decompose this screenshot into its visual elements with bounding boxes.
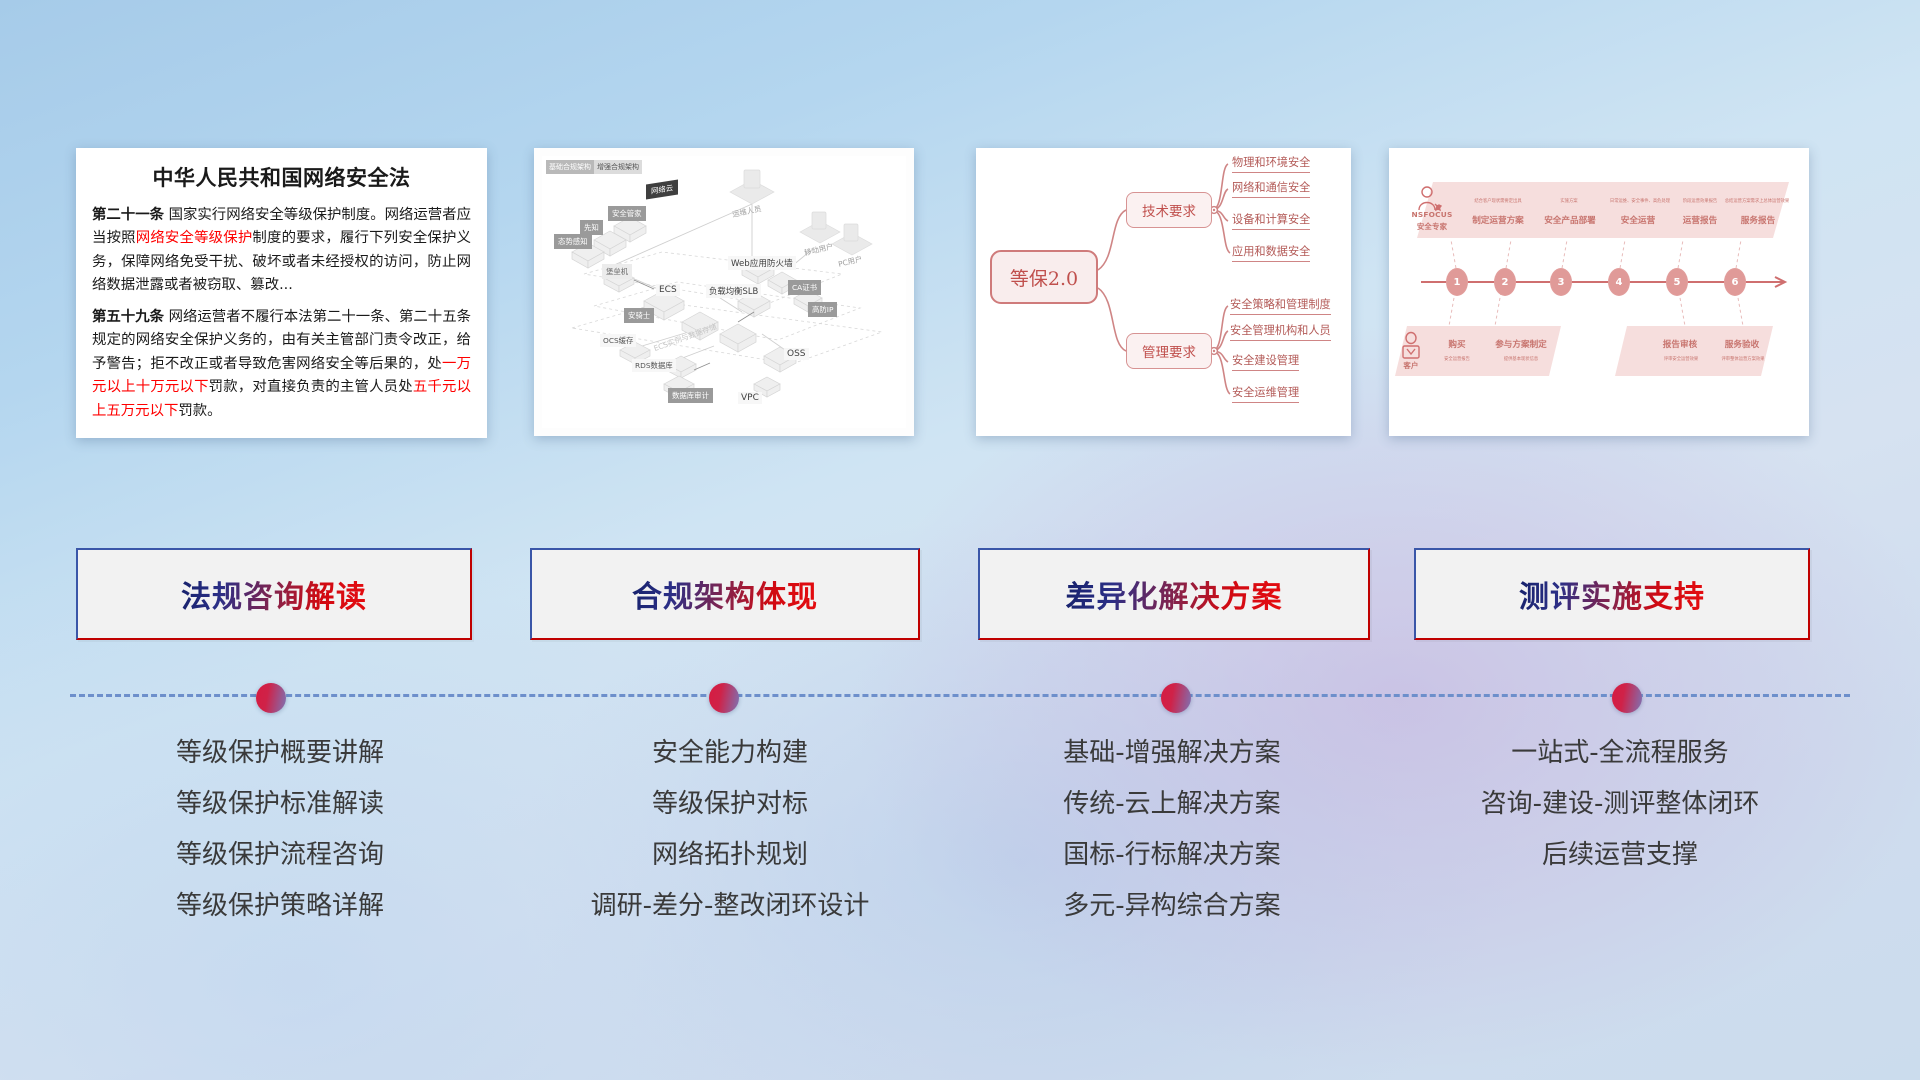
arch-label-ecs: ECS (656, 284, 680, 296)
mindmap: 等保2.0 技术要求 管理要求 物理和环境安全 网络和通信安全 设备和计算安全 … (976, 148, 1351, 436)
nsfocus-customer-label: 客户 (1395, 360, 1427, 371)
nsfocus-step-number-4: 4 (1609, 269, 1629, 295)
feature-item: 国标-行标解决方案 (952, 842, 1392, 868)
nsfocus-step-sub-6: 评审整体运营方案效果 (1699, 356, 1787, 362)
nsfocus-step-number-6: 6 (1725, 269, 1745, 295)
feature-item: 等级保护对标 (510, 791, 950, 817)
timeline-dot-3 (1161, 683, 1191, 713)
article-21-label: 第二十一条 (92, 207, 164, 223)
arch-tab-enhanced[interactable]: 增强合规架构 (594, 160, 642, 174)
feature-item: 等级保护策略详解 (60, 893, 500, 919)
arch-tab-basic[interactable]: 基础合规架构 (546, 160, 594, 174)
nsfocus-step-main-5: 报告审核 (1645, 338, 1715, 350)
mindmap-leaf-policy-system: 安全策略和管理制度 (1230, 296, 1331, 315)
nsfocus-step-number-1: 1 (1447, 269, 1467, 295)
article-59-body-2: 罚款，对直接负责的主管人员处 (209, 379, 413, 395)
feature-column-4: 一站式-全流程服务 咨询-建设-测评整体闭环 后续运营支撑 (1395, 740, 1845, 893)
arch-label-slb: 负载均衡SLB (706, 284, 761, 298)
feature-item: 咨询-建设-测评整体闭环 (1395, 791, 1845, 817)
law-text-wrapper: 中华人民共和国网络安全法 第二十一条 国家实行网络安全等级保护制度。网络运营者应… (76, 148, 487, 438)
arch-label-bastion-host: 堡垒机 (602, 264, 632, 279)
title-box-differentiated-solution[interactable]: 差异化解决方案 (978, 548, 1370, 640)
mindmap-leaf-construction-mgmt: 安全建设管理 (1232, 352, 1299, 371)
law-title: 中华人民共和国网络安全法 (92, 162, 471, 192)
card-compliance-architecture: 基础合规架构 增强合规架构 网络云 安全管家 先知 态势感知 堡垒机 ECS 安… (534, 148, 914, 436)
title-box-row: 法规咨询解读 合规架构体现 差异化解决方案 测评实施支持 (0, 548, 1920, 644)
nsfocus-step-sub-1: 安全运营报告 (1429, 356, 1485, 362)
timeline-dot-4 (1612, 683, 1642, 713)
title-label-2: 合规架构体现 (632, 572, 818, 616)
title-label-3: 差异化解决方案 (1066, 572, 1283, 616)
feature-column-2: 安全能力构建 等级保护对标 网络拓扑规划 调研-差分-整改闭环设计 (510, 740, 950, 944)
nsfocus-step-main-6: 服务验收 (1707, 338, 1777, 350)
arch-label-anti-ddos-ip: 高防IP (808, 302, 837, 317)
feature-item: 等级保护标准解读 (60, 791, 500, 817)
feature-item: 调研-差分-整改闭环设计 (510, 893, 950, 919)
nsfocus-bottom-right-banner (1615, 326, 1773, 376)
arch-label-ca-cert: CA证书 (788, 280, 821, 295)
card-cybersecurity-law: 中华人民共和国网络安全法 第二十一条 国家实行网络安全等级保护制度。网络运营者应… (76, 148, 487, 438)
nsfocus-step-number-5: 5 (1667, 269, 1687, 295)
feature-item: 多元-异构综合方案 (952, 893, 1392, 919)
arch-label-xianzhi: 先知 (580, 220, 603, 235)
arch-label-security-butler: 安全管家 (608, 206, 646, 221)
feature-item: 传统-云上解决方案 (952, 791, 1392, 817)
mindmap-leaf-device-compute: 设备和计算安全 (1232, 211, 1310, 230)
card-djcp-mindmap: 等保2.0 技术要求 管理要求 物理和环境安全 网络和通信安全 设备和计算安全 … (976, 148, 1351, 436)
arch-label-db-audit: 数据库审计 (668, 388, 713, 403)
feature-item: 等级保护流程咨询 (60, 842, 500, 868)
nsfocus-step-number-2: 2 (1495, 269, 1515, 295)
title-label-1: 法规咨询解读 (181, 572, 367, 616)
title-box-assessment-support[interactable]: 测评实施支持 (1414, 548, 1810, 640)
mindmap-leaf-org-personnel: 安全管理机构和人员 (1230, 322, 1331, 341)
architecture-diagram: 基础合规架构 增强合规架构 网络云 安全管家 先知 态势感知 堡垒机 ECS 安… (534, 148, 914, 436)
article-59-body-3: 罚款。 (178, 403, 221, 419)
mindmap-branch-management: 管理要求 (1126, 333, 1212, 369)
card-nsfocus-timeline: NSFOCUS 安全专家 结合客户现状需要定出具 制定运营方案 实施方案 安全产… (1389, 148, 1809, 436)
feature-item: 安全能力构建 (510, 740, 950, 766)
card-row: 中华人民共和国网络安全法 第二十一条 国家实行网络安全等级保护制度。网络运营者应… (0, 148, 1920, 440)
nsfocus-top-banner (1417, 182, 1789, 238)
mindmap-root: 等保2.0 (990, 250, 1098, 304)
arch-label-anqishi: 安骑士 (624, 308, 654, 323)
nsfocus-step-main-2: 参与方案制定 (1483, 338, 1559, 350)
law-article-21: 第二十一条 国家实行网络安全等级保护制度。网络运营者应当按照网络安全等级保护制度… (92, 204, 471, 298)
feature-column-1: 等级保护概要讲解 等级保护标准解读 等级保护流程咨询 等级保护策略详解 (60, 740, 500, 944)
arch-label-ocs-cache: OCS缓存 (600, 334, 636, 347)
title-label-4: 测评实施支持 (1519, 572, 1705, 616)
mindmap-leaf-physical-env: 物理和环境安全 (1232, 154, 1310, 173)
timeline-dot-1 (256, 683, 286, 713)
mindmap-branch-technical: 技术要求 (1126, 192, 1212, 228)
feature-item: 一站式-全流程服务 (1395, 740, 1845, 766)
feature-item: 基础-增强解决方案 (952, 740, 1392, 766)
nsfocus-step-number-3: 3 (1551, 269, 1571, 295)
article-21-highlight: 网络安全等级保护 (136, 230, 253, 246)
nsfocus-top-sub-5: 总结运营方案需求上总体运营效果 (1711, 198, 1803, 204)
timeline-dot-2 (709, 683, 739, 713)
arch-label-rds-database: RDS数据库 (632, 359, 676, 372)
arch-label-waf: Web应用防火墙 (728, 256, 796, 270)
mindmap-leaf-ops-mgmt: 安全运维管理 (1232, 384, 1299, 403)
article-59-label: 第五十九条 (92, 309, 164, 325)
nsfocus-top-main-5: 服务报告 (1715, 214, 1801, 226)
title-box-compliance-architecture[interactable]: 合规架构体现 (530, 548, 920, 640)
nsfocus-timeline: NSFOCUS 安全专家 结合客户现状需要定出具 制定运营方案 实施方案 安全产… (1389, 148, 1809, 436)
feature-item: 后续运营支撑 (1395, 842, 1845, 868)
nsfocus-step-sub-2: 提供基本现状信息 (1483, 356, 1559, 362)
architecture-canvas: 基础合规架构 增强合规架构 网络云 安全管家 先知 态势感知 堡垒机 ECS 安… (542, 156, 906, 428)
arch-label-oss: OSS (784, 348, 809, 360)
title-box-regulation-consulting[interactable]: 法规咨询解读 (76, 548, 472, 640)
mindmap-leaf-network-comm: 网络和通信安全 (1232, 179, 1310, 198)
law-article-59: 第五十九条 网络运营者不履行本法第二十一条、第二十五条规定的网络安全保护义务的，… (92, 306, 471, 423)
timeline-rail (70, 694, 1850, 697)
nsfocus-step-main-1: 购买 (1433, 338, 1481, 350)
feature-column-3: 基础-增强解决方案 传统-云上解决方案 国标-行标解决方案 多元-异构综合方案 (952, 740, 1392, 944)
feature-item: 网络拓扑规划 (510, 842, 950, 868)
feature-item: 等级保护概要讲解 (60, 740, 500, 766)
arch-label-vpc: VPC (738, 392, 762, 404)
mindmap-leaf-app-data: 应用和数据安全 (1232, 243, 1310, 262)
arch-label-situational-awareness: 态势感知 (554, 234, 592, 249)
